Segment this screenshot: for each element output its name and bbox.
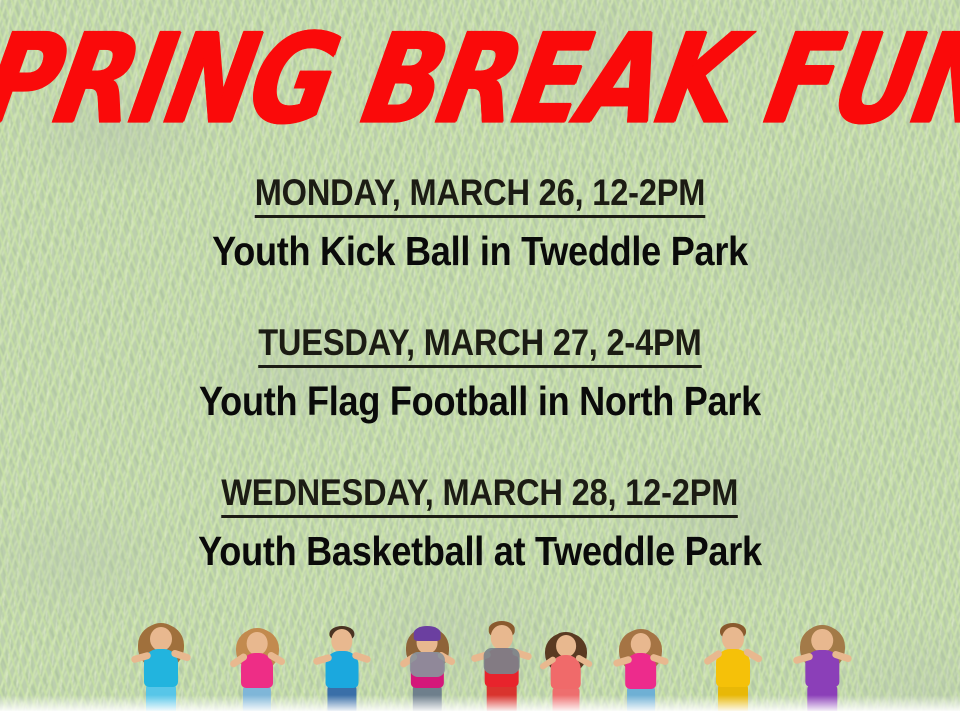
bottom-white-band [0, 711, 960, 720]
event-datetime: TUESDAY, MARCH 27, 2-4PM [258, 322, 701, 368]
child-beanie [414, 626, 441, 640]
photo-bottom-fade [0, 695, 960, 711]
child-head [150, 627, 172, 651]
event-datetime: WEDNESDAY, MARCH 28, 12-2PM [222, 472, 739, 518]
child-head [331, 629, 352, 652]
spring-break-flyer: SPRING BREAK FUN! MONDAY, MARCH 26, 12-2… [0, 0, 960, 720]
event-description: Youth Basketball at Tweddle Park [58, 527, 903, 575]
child-head [247, 632, 268, 655]
event-description: Youth Flag Football in North Park [58, 377, 903, 425]
event-item-monday: MONDAY, MARCH 26, 12-2PM Youth Kick Ball… [0, 172, 960, 276]
child-scarf [483, 648, 520, 675]
event-item-wednesday: WEDNESDAY, MARCH 28, 12-2PM Youth Basket… [0, 472, 960, 576]
child-head [722, 627, 744, 651]
event-item-tuesday: TUESDAY, MARCH 27, 2-4PM Youth Flag Foot… [0, 322, 960, 426]
poster-title: SPRING BREAK FUN! [0, 18, 960, 141]
child-head [812, 629, 834, 653]
headline-container: SPRING BREAK FUN! [0, 16, 960, 142]
event-datetime: MONDAY, MARCH 26, 12-2PM [255, 172, 706, 218]
schedule-list: MONDAY, MARCH 26, 12-2PM Youth Kick Ball… [0, 172, 960, 575]
child-scarf [410, 652, 444, 677]
event-description: Youth Kick Ball in Tweddle Park [58, 227, 903, 275]
child-head [490, 625, 512, 649]
child-head [556, 635, 576, 657]
